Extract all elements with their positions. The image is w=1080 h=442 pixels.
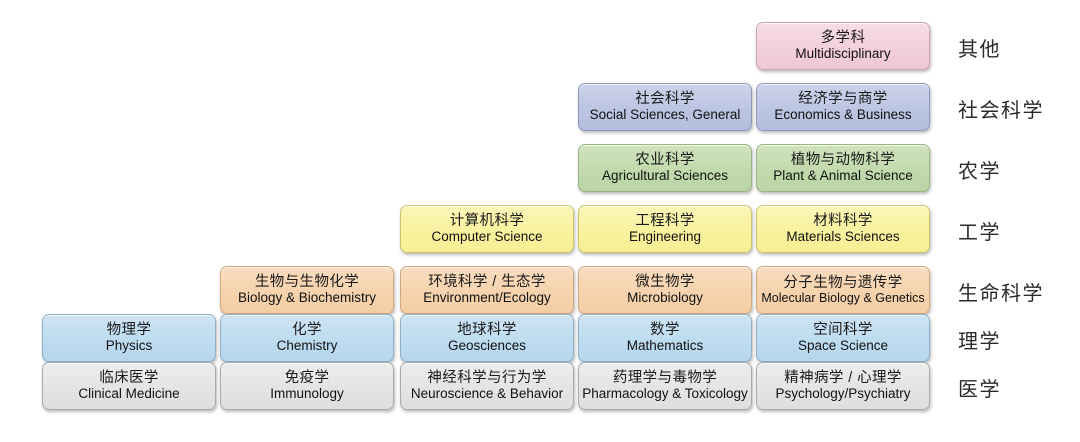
discipline-label-cn: 免疫学 bbox=[285, 371, 330, 386]
discipline-box[interactable]: 计算机科学Computer Science bbox=[400, 205, 574, 253]
category-axis-label-natural-sciences: 理学 bbox=[958, 325, 1001, 354]
discipline-label-cn: 生物与生物化学 bbox=[255, 275, 359, 290]
discipline-box[interactable]: 地球科学Geosciences bbox=[400, 314, 574, 362]
discipline-label-cn: 经济学与商学 bbox=[798, 92, 887, 107]
discipline-label-cn: 工程科学 bbox=[635, 214, 695, 229]
discipline-box[interactable]: 免疫学Immunology bbox=[220, 362, 394, 410]
discipline-box[interactable]: 化学Chemistry bbox=[220, 314, 394, 362]
discipline-box[interactable]: 分子生物与遗传学Molecular Biology & Genetics bbox=[756, 266, 930, 314]
discipline-label-cn: 精神病学 / 心理学 bbox=[784, 371, 902, 386]
discipline-label-cn: 药理学与毒物学 bbox=[613, 371, 717, 386]
discipline-box[interactable]: 经济学与商学Economics & Business bbox=[756, 83, 930, 131]
discipline-label-en: Materials Sciences bbox=[786, 230, 899, 244]
discipline-label-cn: 物理学 bbox=[107, 323, 152, 338]
discipline-box[interactable]: 物理学Physics bbox=[42, 314, 216, 362]
discipline-label-cn: 多学科 bbox=[821, 31, 866, 46]
discipline-label-en: Mathematics bbox=[627, 339, 704, 353]
discipline-label-en: Plant & Animal Science bbox=[773, 169, 913, 183]
category-axis-label-social-sciences: 社会科学 bbox=[958, 94, 1044, 123]
discipline-label-en: Microbiology bbox=[627, 291, 703, 305]
discipline-label-en: Geosciences bbox=[448, 339, 526, 353]
discipline-box[interactable]: 材料科学Materials Sciences bbox=[756, 205, 930, 253]
discipline-row-agriculture: 农业科学Agricultural Sciences植物与动物科学Plant & … bbox=[0, 144, 1080, 192]
discipline-box[interactable]: 多学科Multidisciplinary bbox=[756, 22, 930, 70]
discipline-label-cn: 农业科学 bbox=[635, 153, 695, 168]
discipline-label-cn: 分子生物与遗传学 bbox=[783, 276, 902, 291]
discipline-label-cn: 化学 bbox=[292, 323, 322, 338]
discipline-row-natural-sciences: 物理学Physics化学Chemistry地球科学Geosciences数学Ma… bbox=[0, 314, 1080, 362]
discipline-pyramid-diagram: 多学科Multidisciplinary其他社会科学Social Science… bbox=[0, 0, 1080, 442]
discipline-label-en: Social Sciences, General bbox=[590, 108, 741, 122]
discipline-label-cn: 环境科学 / 生态学 bbox=[428, 275, 546, 290]
discipline-box[interactable]: 药理学与毒物学Pharmacology & Toxicology bbox=[578, 362, 752, 410]
discipline-row-medicine: 临床医学Clinical Medicine免疫学Immunology神经科学与行… bbox=[0, 362, 1080, 410]
discipline-box[interactable]: 农业科学Agricultural Sciences bbox=[578, 144, 752, 192]
discipline-label-cn: 数学 bbox=[650, 323, 680, 338]
discipline-label-en: Clinical Medicine bbox=[78, 387, 179, 401]
discipline-box[interactable]: 植物与动物科学Plant & Animal Science bbox=[756, 144, 930, 192]
category-axis-label-other: 其他 bbox=[958, 33, 1001, 62]
discipline-label-en: Pharmacology & Toxicology bbox=[582, 387, 748, 401]
discipline-box[interactable]: 神经科学与行为学Neuroscience & Behavior bbox=[400, 362, 574, 410]
discipline-box[interactable]: 生物与生物化学Biology & Biochemistry bbox=[220, 266, 394, 314]
discipline-label-cn: 临床医学 bbox=[99, 371, 159, 386]
discipline-row-other: 多学科Multidisciplinary bbox=[0, 22, 1080, 70]
discipline-label-en: Molecular Biology & Genetics bbox=[761, 292, 924, 305]
discipline-box[interactable]: 精神病学 / 心理学Psychology/Psychiatry bbox=[756, 362, 930, 410]
category-axis-label-life-sciences: 生命科学 bbox=[958, 277, 1044, 306]
discipline-label-en: Biology & Biochemistry bbox=[238, 291, 376, 305]
discipline-label-en: Environment/Ecology bbox=[423, 291, 551, 305]
discipline-box[interactable]: 临床医学Clinical Medicine bbox=[42, 362, 216, 410]
discipline-label-cn: 计算机科学 bbox=[450, 214, 525, 229]
discipline-row-social-sciences: 社会科学Social Sciences, General经济学与商学Econom… bbox=[0, 83, 1080, 131]
discipline-box[interactable]: 工程科学Engineering bbox=[578, 205, 752, 253]
discipline-box[interactable]: 空间科学Space Science bbox=[756, 314, 930, 362]
discipline-label-en: Neuroscience & Behavior bbox=[411, 387, 563, 401]
discipline-label-cn: 空间科学 bbox=[813, 323, 873, 338]
discipline-label-cn: 神经科学与行为学 bbox=[427, 371, 546, 386]
category-axis-label-medicine: 医学 bbox=[958, 373, 1001, 402]
discipline-label-cn: 社会科学 bbox=[635, 92, 695, 107]
discipline-box[interactable]: 微生物学Microbiology bbox=[578, 266, 752, 314]
discipline-label-en: Computer Science bbox=[431, 230, 542, 244]
discipline-label-cn: 材料科学 bbox=[813, 214, 873, 229]
discipline-label-en: Physics bbox=[106, 339, 153, 353]
discipline-label-en: Multidisciplinary bbox=[795, 47, 890, 61]
discipline-row-life-sciences: 生物与生物化学Biology & Biochemistry环境科学 / 生态学E… bbox=[0, 266, 1080, 314]
discipline-label-en: Agricultural Sciences bbox=[602, 169, 728, 183]
discipline-box[interactable]: 社会科学Social Sciences, General bbox=[578, 83, 752, 131]
discipline-box[interactable]: 数学Mathematics bbox=[578, 314, 752, 362]
discipline-label-cn: 植物与动物科学 bbox=[791, 153, 895, 168]
discipline-label-en: Engineering bbox=[629, 230, 701, 244]
discipline-label-en: Economics & Business bbox=[774, 108, 911, 122]
category-axis-label-agriculture: 农学 bbox=[958, 155, 1001, 184]
discipline-label-en: Psychology/Psychiatry bbox=[775, 387, 910, 401]
discipline-label-cn: 微生物学 bbox=[635, 275, 695, 290]
category-axis-label-engineering: 工学 bbox=[958, 216, 1001, 245]
discipline-row-engineering: 计算机科学Computer Science工程科学Engineering材料科学… bbox=[0, 205, 1080, 253]
discipline-label-cn: 地球科学 bbox=[457, 323, 517, 338]
discipline-label-en: Space Science bbox=[798, 339, 888, 353]
discipline-label-en: Chemistry bbox=[277, 339, 338, 353]
discipline-label-en: Immunology bbox=[270, 387, 344, 401]
discipline-box[interactable]: 环境科学 / 生态学Environment/Ecology bbox=[400, 266, 574, 314]
